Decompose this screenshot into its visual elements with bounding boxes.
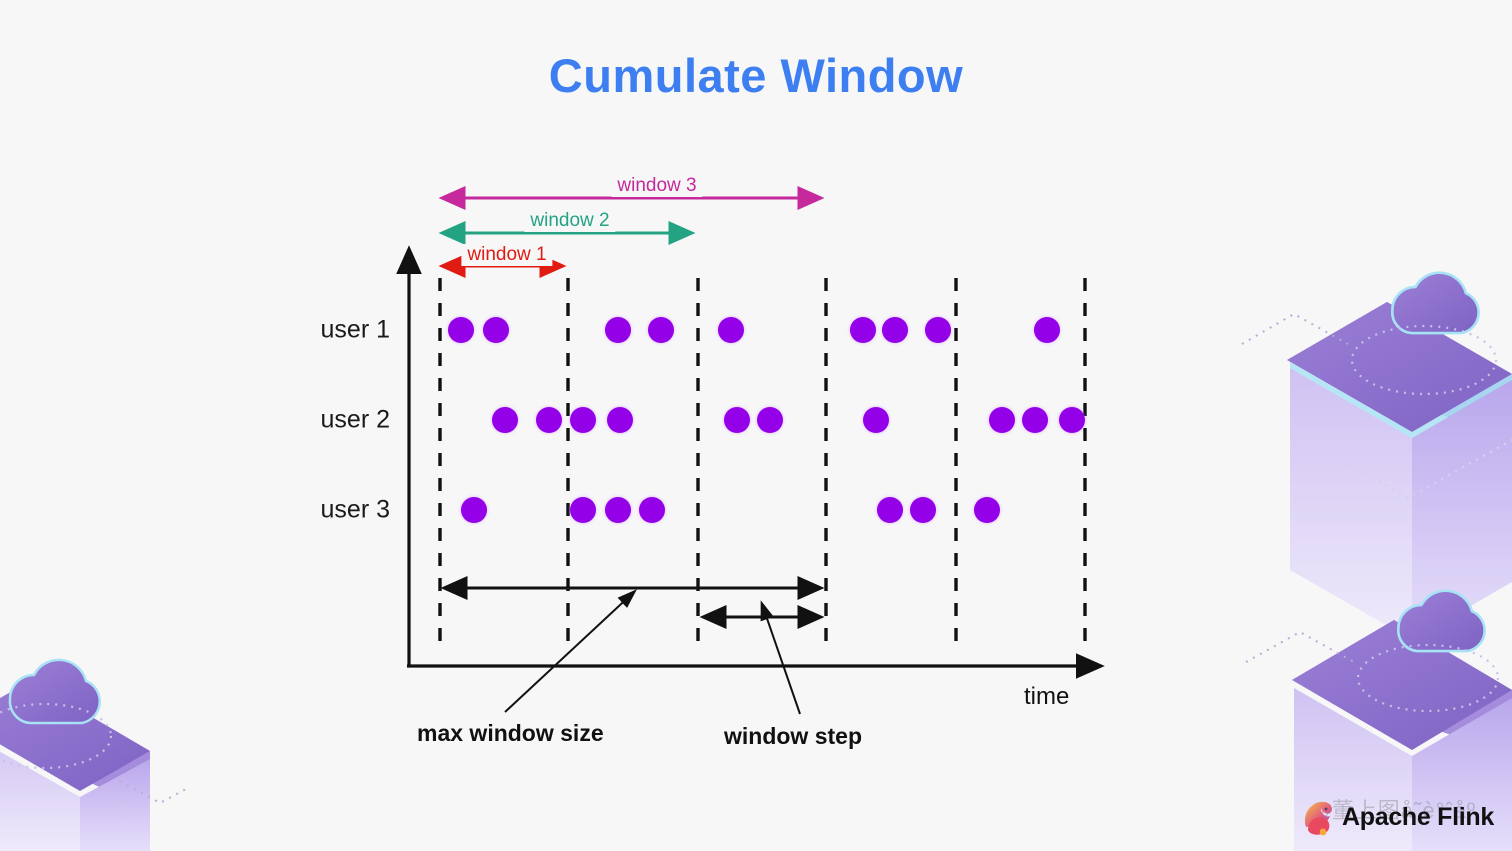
event-dot bbox=[461, 497, 487, 523]
event-dot bbox=[863, 407, 889, 433]
event-dot bbox=[925, 317, 951, 343]
event-dots-layer bbox=[0, 0, 1512, 851]
event-dot bbox=[483, 317, 509, 343]
apache-flink-label: Apache Flink bbox=[1342, 803, 1494, 832]
event-dot bbox=[570, 407, 596, 433]
event-dot bbox=[1059, 407, 1085, 433]
event-dot bbox=[974, 497, 1000, 523]
apache-flink-watermark: Apache Flink bbox=[1300, 797, 1494, 837]
event-dot bbox=[536, 407, 562, 433]
event-dot bbox=[877, 497, 903, 523]
event-dot bbox=[605, 497, 631, 523]
event-dot bbox=[724, 407, 750, 433]
event-dot bbox=[757, 407, 783, 433]
event-dot bbox=[570, 497, 596, 523]
event-dot bbox=[607, 407, 633, 433]
event-dot bbox=[492, 407, 518, 433]
event-dot bbox=[648, 317, 674, 343]
event-dot bbox=[850, 317, 876, 343]
event-dot bbox=[639, 497, 665, 523]
event-dot bbox=[1022, 407, 1048, 433]
event-dot bbox=[448, 317, 474, 343]
event-dot bbox=[989, 407, 1015, 433]
event-dot bbox=[1034, 317, 1060, 343]
flink-squirrel-icon bbox=[1300, 797, 1336, 837]
event-dot bbox=[718, 317, 744, 343]
event-dot bbox=[882, 317, 908, 343]
event-dot bbox=[910, 497, 936, 523]
event-dot bbox=[605, 317, 631, 343]
slide-canvas: Cumulate Window bbox=[0, 0, 1512, 851]
